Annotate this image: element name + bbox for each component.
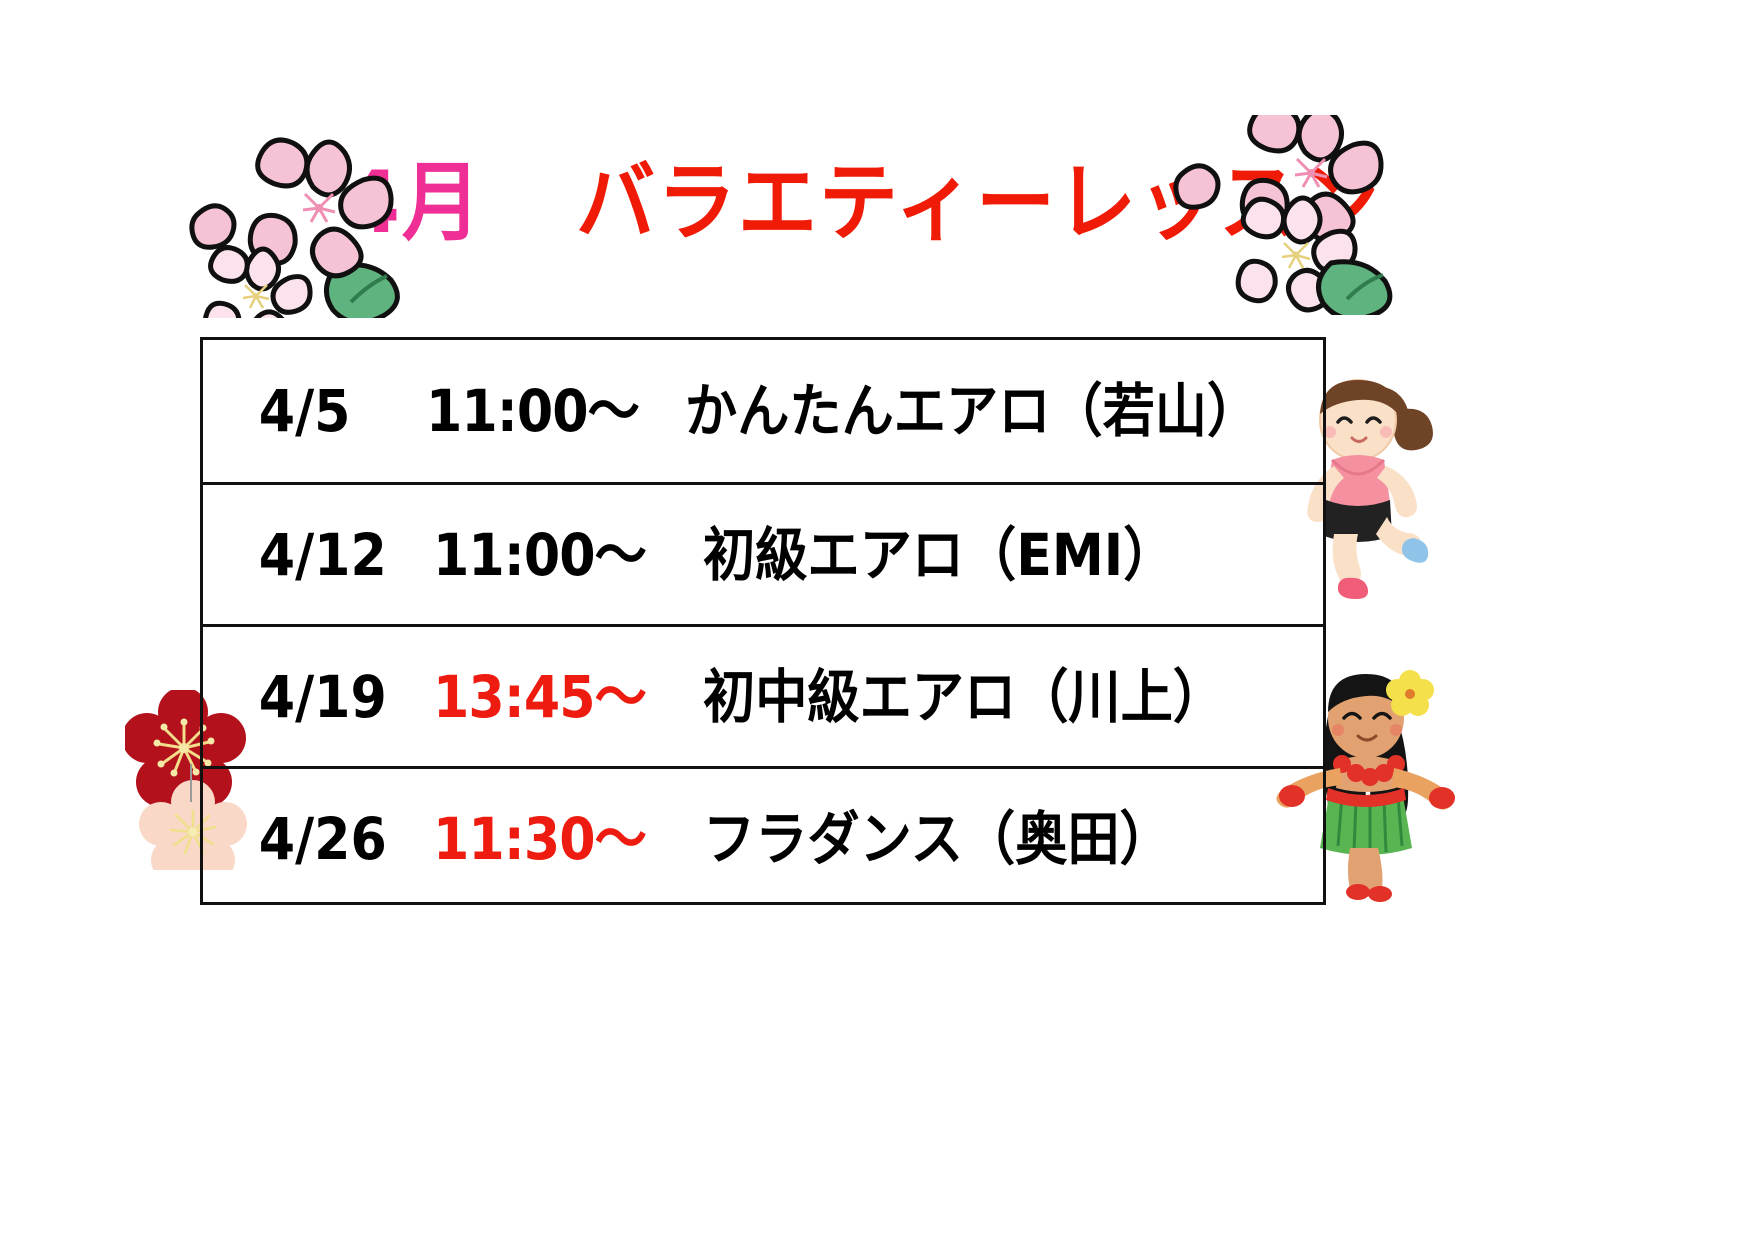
row-time: 11:30〜: [433, 810, 676, 868]
sakura-blossom-right-icon: [1165, 115, 1415, 319]
row-time: 11:00〜: [426, 382, 659, 440]
row-lesson: かんたんエアロ（若山）: [685, 382, 1259, 440]
row-time: 11:00〜: [433, 526, 676, 584]
sakura-blossom-left-icon: [155, 118, 415, 322]
poster-canvas: 4月バラエティーレッスン: [0, 0, 1754, 1240]
row-date: 4/5: [203, 382, 404, 440]
row-date: 4/19: [203, 668, 410, 726]
row-date: 4/12: [203, 526, 410, 584]
row-time: 13:45〜: [433, 668, 676, 726]
row-lesson: フラダンス（奥田）: [703, 810, 1261, 868]
row-date: 4/26: [203, 810, 410, 868]
table-row: 4/19 13:45〜 初中級エアロ（川上）: [203, 624, 1323, 766]
schedule-table: 4/5 11:00〜 かんたんエアロ（若山） 4/12 11:00〜 初級エアロ…: [200, 337, 1326, 905]
row-lesson: 初級エアロ（EMI）: [703, 526, 1261, 584]
table-row: 4/5 11:00〜 かんたんエアロ（若山）: [203, 340, 1323, 482]
table-row: 4/26 11:30〜 フラダンス（奥田）: [203, 766, 1323, 908]
table-row: 4/12 11:00〜 初級エアロ（EMI）: [203, 482, 1323, 624]
row-lesson: 初中級エアロ（川上）: [703, 668, 1261, 726]
